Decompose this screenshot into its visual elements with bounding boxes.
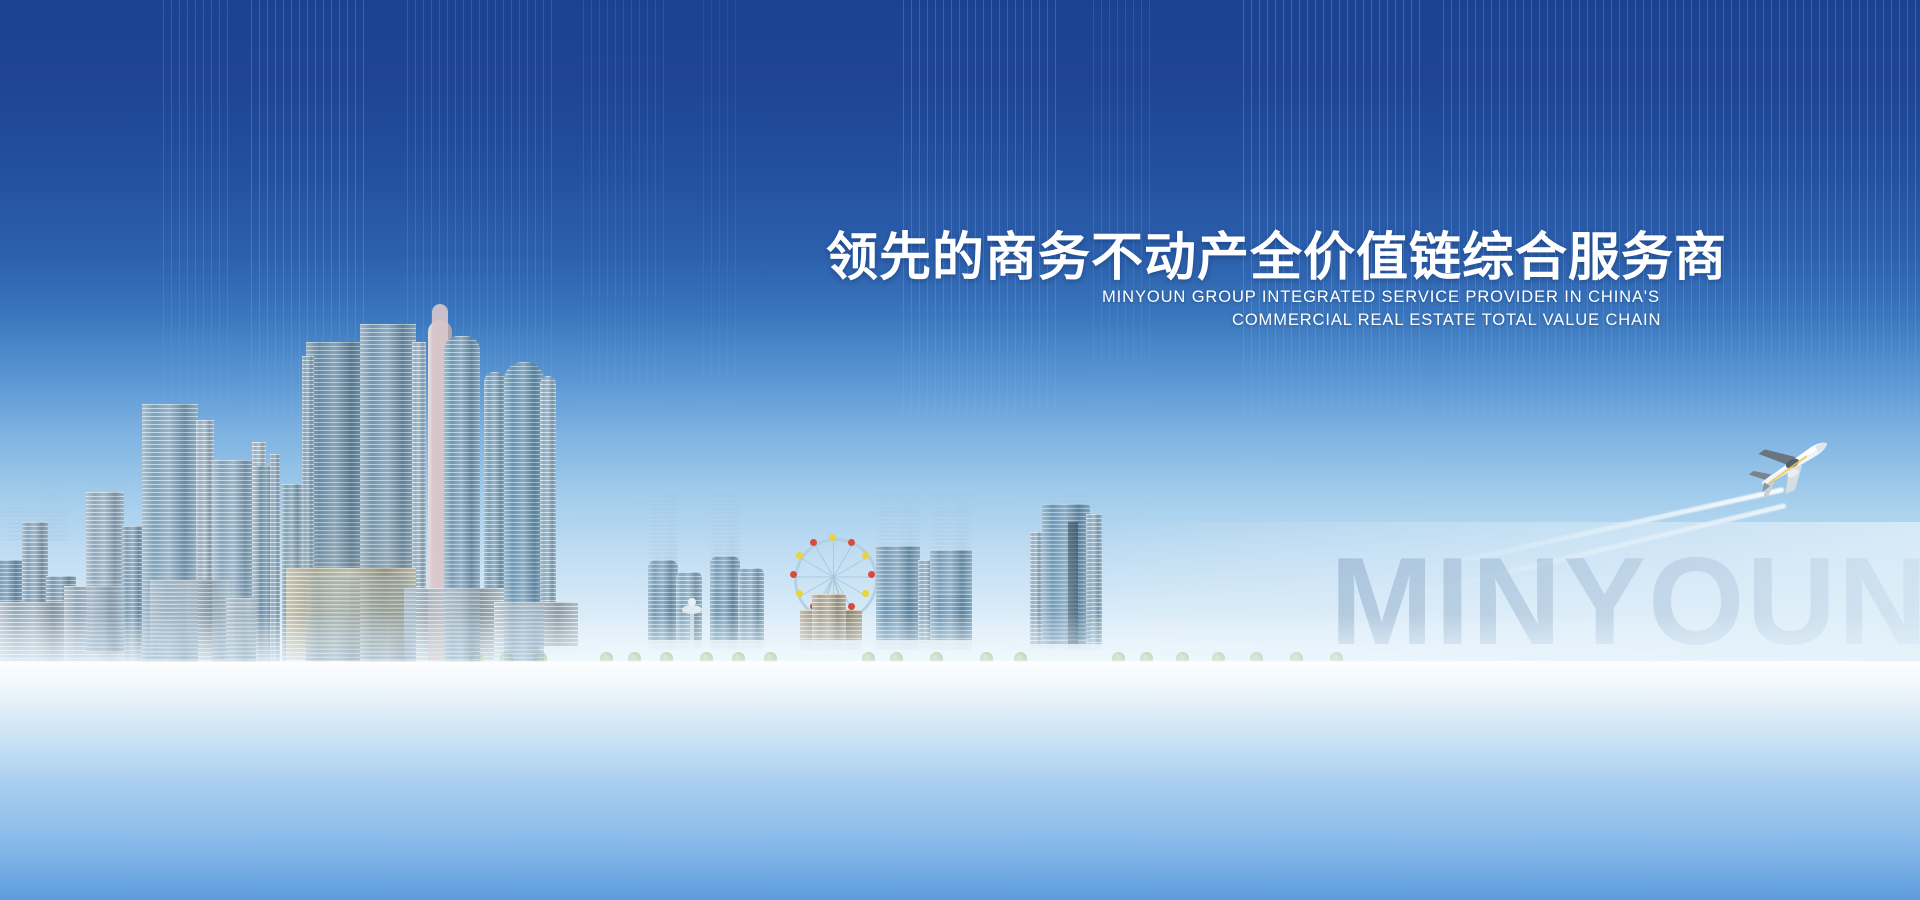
hero-banner: MINYOUN [0,0,1920,900]
subtitle-line-2: COMMERCIAL REAL ESTATE TOTAL VALUE CHAIN [1232,311,1661,330]
horizon-line [0,660,1920,664]
water-reflection-icon [0,472,1920,662]
water-sheen [0,662,1920,782]
subtitle-line-1: MINYOUN GROUP INTEGRATED SERVICE PROVIDE… [1102,288,1660,307]
page-title: 领先的商务不动产全价值链综合服务商 [826,215,1727,290]
